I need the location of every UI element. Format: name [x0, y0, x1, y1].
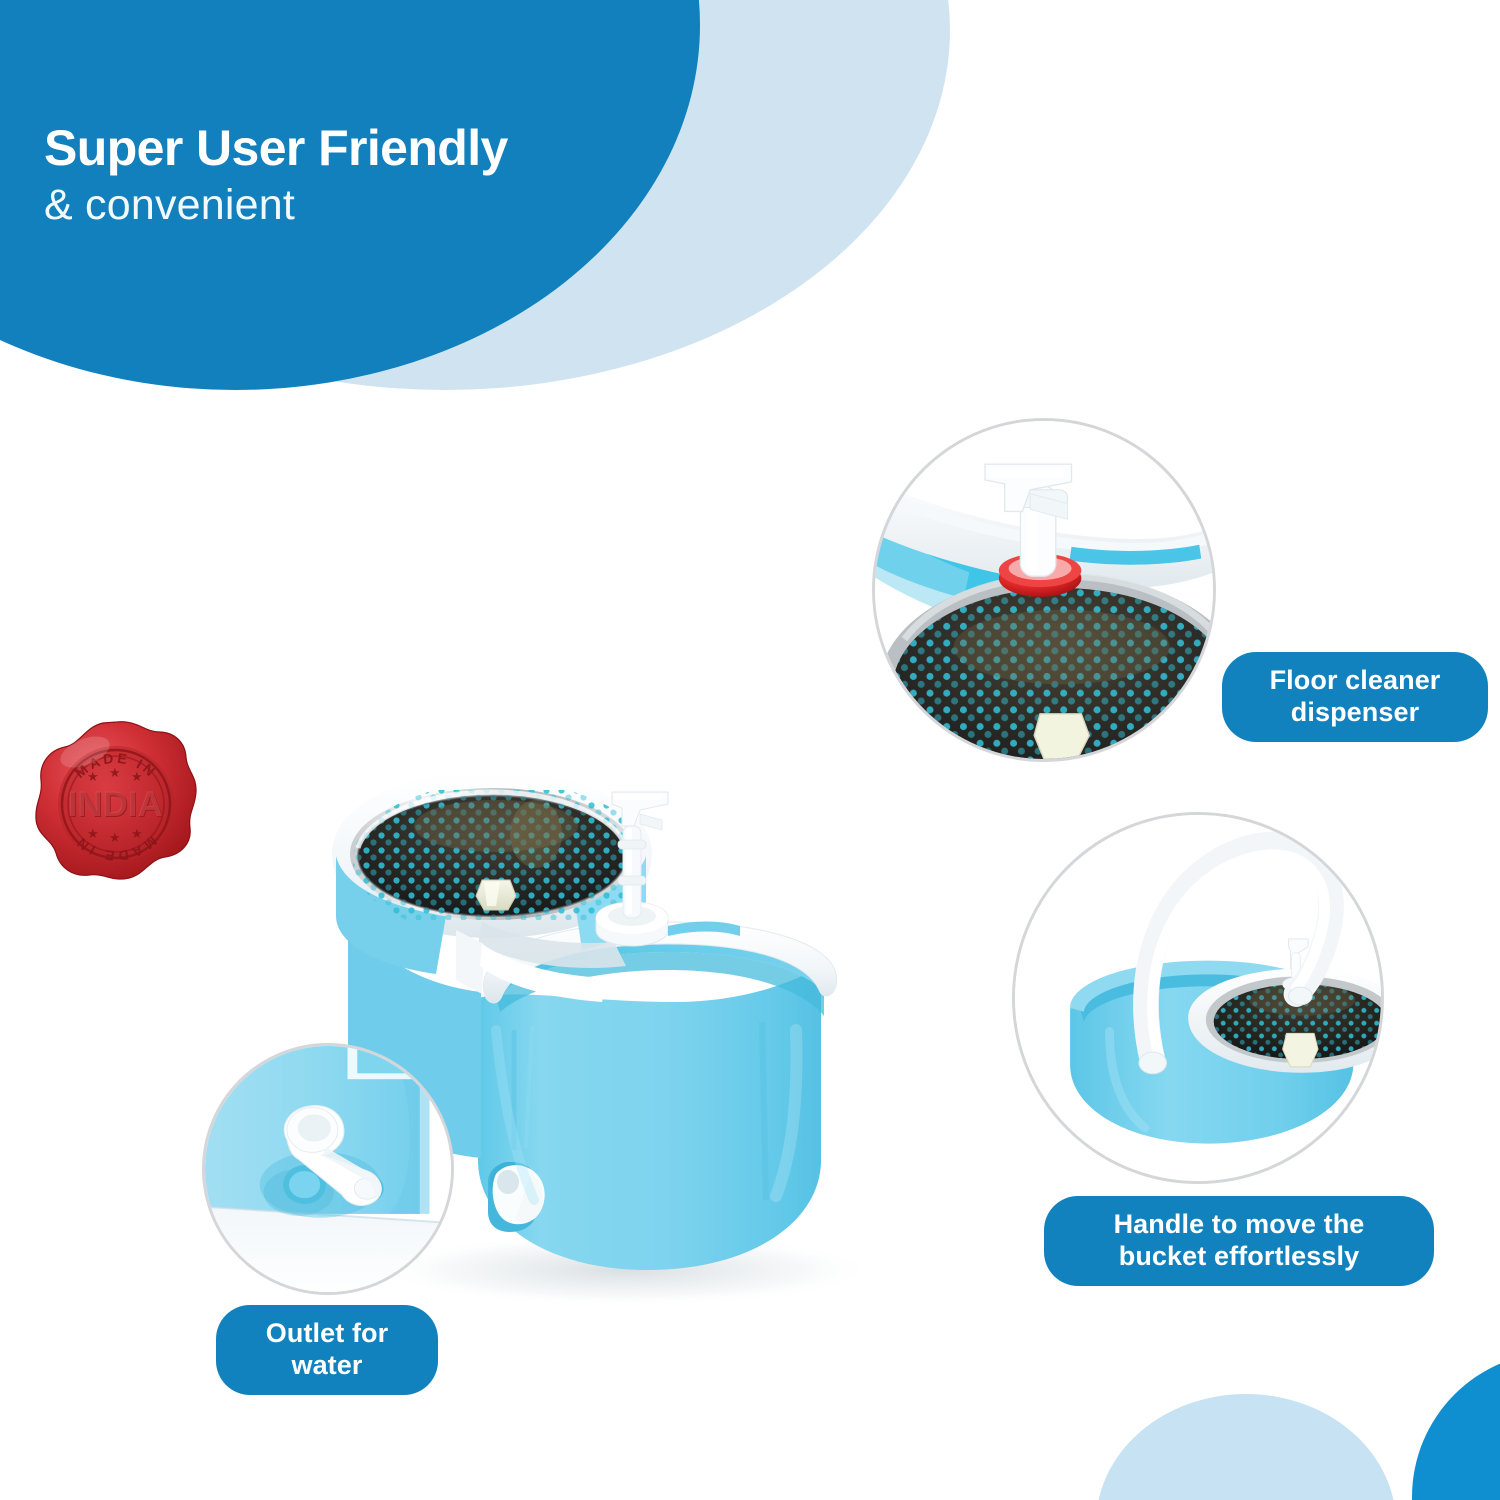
seal-star: ★ — [131, 769, 143, 784]
callout-label-handle: Handle to move the bucket effortlessly — [1044, 1196, 1434, 1286]
made-in-india-seal: MADE IN MADE IN ★ ★ ★ ★ ★ ★ INDIA INDIA — [33, 718, 198, 888]
seal-star: ★ — [131, 826, 143, 841]
product-feature-banner: Super User Friendly & convenient — [0, 0, 1500, 1500]
callout-label-line2: water — [238, 1350, 416, 1382]
callout-label-line1: Floor cleaner — [1244, 665, 1466, 697]
handle-closeup-photo — [1015, 815, 1381, 1181]
header-text-block: Super User Friendly & convenient — [44, 122, 664, 230]
seal-star: ★ — [87, 826, 99, 841]
page-title: Super User Friendly — [44, 122, 664, 175]
callout-label-outlet: Outlet for water — [216, 1305, 438, 1395]
page-subtitle: & convenient — [44, 181, 664, 230]
callout-outlet — [202, 1043, 454, 1295]
seal-star: ★ — [109, 830, 121, 845]
seal-center-text-highlight: INDIA — [68, 785, 163, 824]
outlet-closeup-photo — [205, 1046, 451, 1292]
callout-label-line2: bucket effortlessly — [1066, 1241, 1412, 1273]
seal-star: ★ — [109, 765, 121, 780]
callout-label-line1: Outlet for — [238, 1318, 416, 1350]
callout-dispenser — [872, 418, 1216, 762]
seal-star: ★ — [87, 769, 99, 784]
callout-handle — [1012, 812, 1384, 1184]
footer-light-blob — [1096, 1394, 1396, 1500]
footer-dark-blob — [1412, 1352, 1500, 1500]
callout-label-line2: dispenser — [1244, 697, 1466, 729]
dispenser-closeup-photo — [875, 421, 1213, 759]
callout-label-line1: Handle to move the — [1066, 1209, 1412, 1241]
callout-label-dispenser: Floor cleaner dispenser — [1222, 652, 1488, 742]
